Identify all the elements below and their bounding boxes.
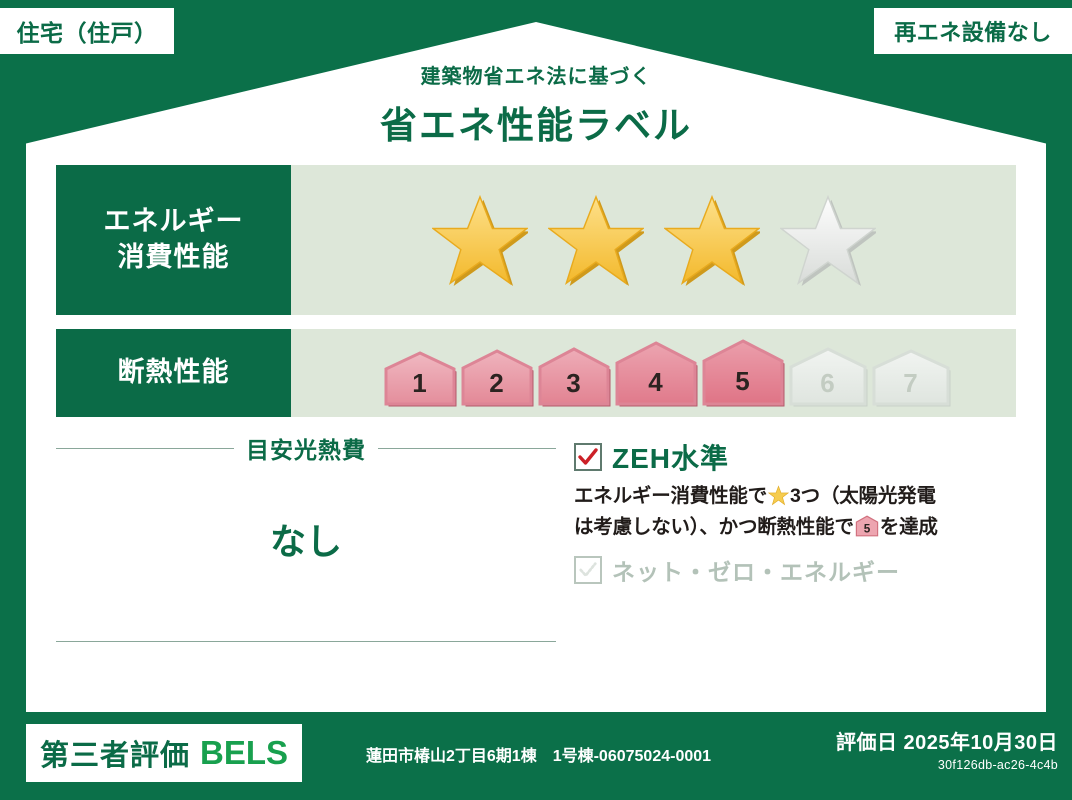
nze-label: ネット・ゼロ・エネルギー [612,553,900,587]
insulation-level-scale: 1234567 [357,339,951,407]
house-5-icon: 5 [855,515,879,545]
zeh-title-label: ZEH水準 [612,437,729,477]
star-icon [664,194,760,286]
zeh-checkbox[interactable] [574,443,602,471]
bels-en-label: BELS [200,734,288,772]
star-icon [432,194,528,286]
utility-cost-panel: 目安光熱費 なし [56,431,556,642]
zeh-desc-part4: を達成 [880,516,938,538]
insulation-level-number: 6 [788,368,868,399]
zeh-desc-part1: エネルギー消費性能で [574,485,767,507]
renewable-equipment-badge: 再エネ設備なし [874,8,1072,54]
title-subtitle: 建築物省エネ法に基づく [0,60,1072,89]
insulation-performance-value: 1234567 [291,329,1016,417]
footer-date-value: 2025年10月30日 [904,732,1058,754]
label-content: エネルギー 消費性能 断熱性能 1234567 目安光熱費 なし [56,165,1016,642]
bels-badge: 第三者評価 BELS [26,724,302,782]
page-title: 建築物省エネ法に基づく 省エネ性能ラベル [0,60,1072,149]
housing-type-badge-label: 住宅（住戸） [17,14,158,48]
star-icon [780,194,876,286]
insulation-level-number: 5 [701,366,785,397]
utility-cost-heading-text: 目安光熱費 [246,431,366,465]
insulation-level-number: 2 [460,368,534,399]
star-rating [432,194,876,286]
star-icon [548,194,644,286]
svg-text:5: 5 [864,522,871,535]
footer-date: 評価日 2025年10月30日 [836,726,1058,755]
check-icon [577,446,599,468]
footer-evaluation-info: 評価日 2025年10月30日 30f126db-ac26-4c4b [836,726,1058,772]
energy-performance-label: エネルギー 消費性能 [56,165,291,315]
footer: 第三者評価 BELS 蓮田市椿山2丁目6期1棟 1号棟-06075024-000… [0,712,1072,800]
energy-performance-row: エネルギー 消費性能 [56,165,1016,315]
lower-section: 目安光熱費 なし ZEH水準 エネルギー消費性能で3つ（太陽光発電は考慮しない）… [56,431,1016,642]
zeh-desc-part3: は考慮しない）、かつ断熱性能で [574,516,854,538]
zeh-title-row: ZEH水準 [574,437,1016,477]
insulation-level-2: 2 [460,349,534,407]
nze-row: ネット・ゼロ・エネルギー [574,553,1016,587]
footer-date-label: 評価日 [836,732,898,754]
bels-jp-label: 第三者評価 [40,732,190,774]
insulation-performance-label-text: 断熱性能 [118,355,230,391]
insulation-level-6: 6 [788,347,868,407]
footer-address: 蓮田市椿山2丁目6期1棟 1号棟-06075024-0001 [366,742,711,766]
title-main: 省エネ性能ラベル [0,95,1072,149]
renewable-equipment-badge-label: 再エネ設備なし [894,15,1052,47]
zeh-panel: ZEH水準 エネルギー消費性能で3つ（太陽光発電は考慮しない）、かつ断熱性能で5… [556,431,1016,642]
insulation-level-4: 4 [614,341,698,407]
energy-performance-label-line2: 消費性能 [118,240,230,276]
housing-type-badge: 住宅（住戸） [0,8,174,54]
insulation-level-5: 5 [701,339,785,407]
insulation-level-1: 1 [383,351,457,407]
insulation-performance-row: 断熱性能 1234567 [56,329,1016,417]
check-icon [578,560,598,580]
star-icon [768,485,789,514]
utility-cost-divider [56,641,556,642]
zeh-description: エネルギー消費性能で3つ（太陽光発電は考慮しない）、かつ断熱性能で5を達成 [574,483,1016,545]
zeh-desc-part2: 3つ（太陽光発電 [790,485,936,507]
insulation-level-number: 1 [383,368,457,399]
utility-cost-value: なし [56,513,556,565]
insulation-level-number: 7 [871,368,951,399]
utility-cost-heading: 目安光熱費 [56,431,556,465]
insulation-level-7: 7 [871,349,951,407]
energy-performance-value [291,165,1016,315]
insulation-performance-label: 断熱性能 [56,329,291,417]
energy-performance-label-line1: エネルギー [104,204,244,240]
insulation-level-number: 3 [537,368,611,399]
nze-checkbox[interactable] [574,556,602,584]
footer-hash: 30f126db-ac26-4c4b [836,758,1058,772]
insulation-level-3: 3 [537,347,611,407]
insulation-level-number: 4 [614,367,698,398]
